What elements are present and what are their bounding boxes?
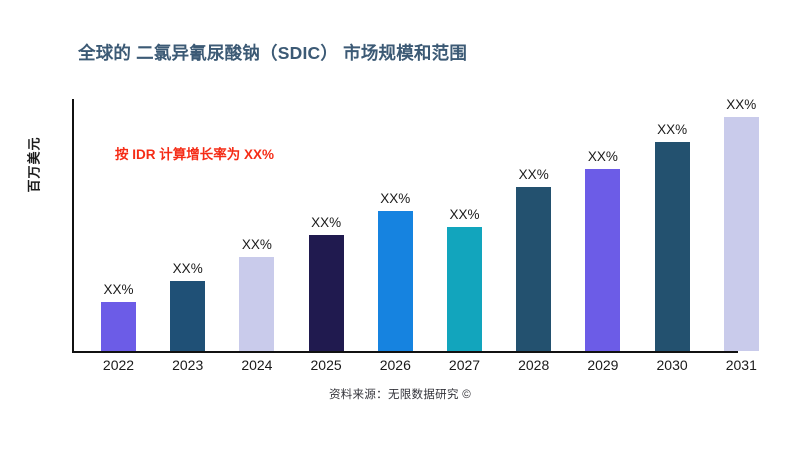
x-tick-2024: 2024 <box>222 357 292 373</box>
bar-2031[interactable] <box>724 117 759 351</box>
bar-2027[interactable] <box>447 227 482 351</box>
bar-group-2030[interactable]: XX% <box>655 142 690 351</box>
y-axis-label: 百万美元 <box>24 110 43 220</box>
bar-group-2027[interactable]: XX% <box>447 227 482 351</box>
chart-container: 全球的 二氯异氰尿酸钠（SDIC） 市场规模和范围 百万美元 按 IDR 计算增… <box>0 0 800 450</box>
source-note: 资料来源：无限数据研究 © <box>0 386 800 402</box>
x-tick-2031: 2031 <box>706 357 776 373</box>
bar-value-label: XX% <box>588 149 618 164</box>
bar-value-label: XX% <box>380 191 410 206</box>
bar-2023[interactable] <box>170 281 205 351</box>
x-tick-2023: 2023 <box>153 357 223 373</box>
x-axis-line <box>72 351 738 353</box>
bar-group-2028[interactable]: XX% <box>516 187 551 351</box>
bar-2024[interactable] <box>239 257 274 351</box>
x-tick-2030: 2030 <box>637 357 707 373</box>
bar-value-label: XX% <box>103 282 133 297</box>
bar-2022[interactable] <box>101 302 136 351</box>
bar-value-label: XX% <box>726 97 756 112</box>
bar-value-label: XX% <box>449 207 479 222</box>
bar-value-label: XX% <box>173 261 203 276</box>
plot-area: XX%XX%XX%XX%XX%XX%XX%XX%XX%XX% <box>72 99 784 353</box>
chart-title: 全球的 二氯异氰尿酸钠（SDIC） 市场规模和范围 <box>78 40 467 65</box>
bar-group-2023[interactable]: XX% <box>170 281 205 351</box>
x-tick-2029: 2029 <box>568 357 638 373</box>
bar-group-2031[interactable]: XX% <box>724 117 759 351</box>
x-tick-2027: 2027 <box>430 357 500 373</box>
bar-value-label: XX% <box>242 237 272 252</box>
bar-value-label: XX% <box>519 167 549 182</box>
x-tick-2028: 2028 <box>499 357 569 373</box>
bar-value-label: XX% <box>657 122 687 137</box>
x-tick-2026: 2026 <box>360 357 430 373</box>
bar-2025[interactable] <box>309 235 344 351</box>
bar-2026[interactable] <box>378 211 413 351</box>
bar-group-2026[interactable]: XX% <box>378 211 413 351</box>
bar-group-2024[interactable]: XX% <box>239 257 274 351</box>
bar-group-2025[interactable]: XX% <box>309 235 344 351</box>
bar-2030[interactable] <box>655 142 690 351</box>
bar-2028[interactable] <box>516 187 551 351</box>
bar-2029[interactable] <box>585 169 620 351</box>
x-tick-2022: 2022 <box>84 357 154 373</box>
x-tick-2025: 2025 <box>291 357 361 373</box>
bar-group-2029[interactable]: XX% <box>585 169 620 351</box>
y-axis-line <box>72 99 74 353</box>
bar-value-label: XX% <box>311 215 341 230</box>
bar-group-2022[interactable]: XX% <box>101 302 136 351</box>
